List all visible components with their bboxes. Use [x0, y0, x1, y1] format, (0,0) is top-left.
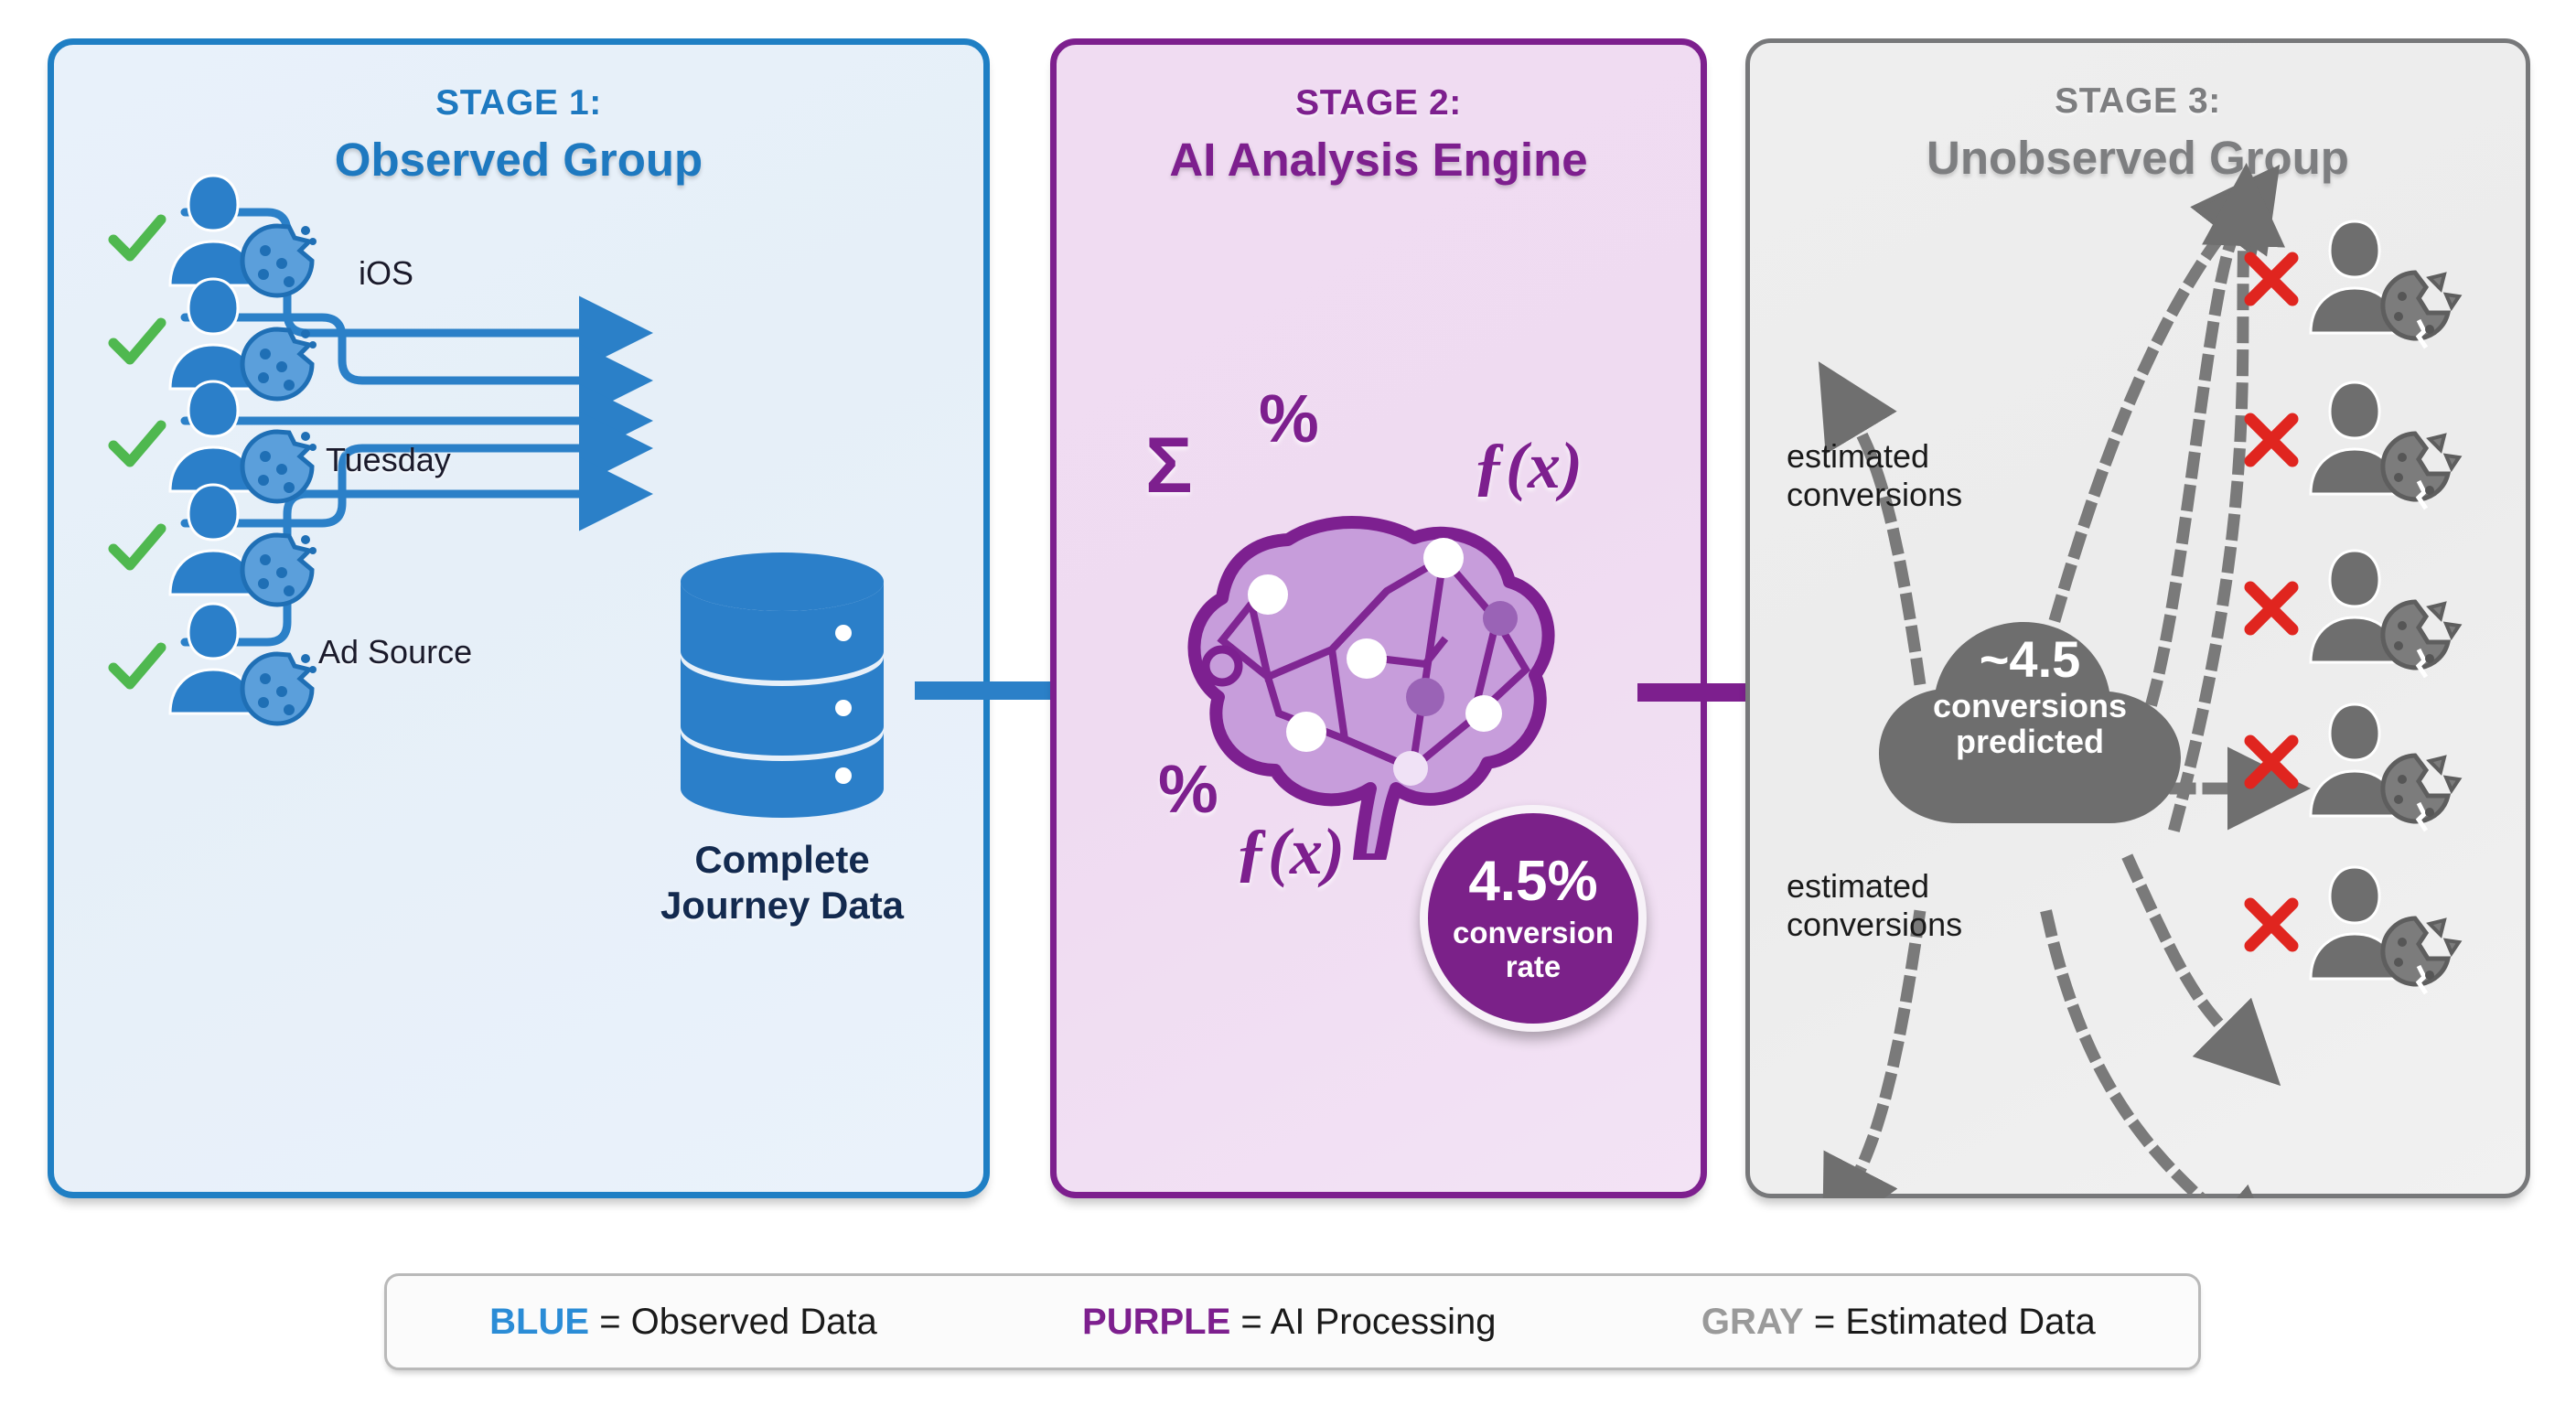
legend-item-purple: PURPLE = AI Processing [1082, 1302, 1496, 1343]
green-check-icon [108, 637, 166, 695]
observed-person-row [0, 593, 366, 730]
unobserved-person-row [2203, 858, 2569, 995]
cookie-broken-icon [2378, 426, 2463, 510]
stage-2-title: AI Analysis Engine [1057, 133, 1701, 187]
cookie-broken-icon [2378, 595, 2463, 679]
legend-value-blue: = Observed Data [599, 1302, 877, 1342]
database-cylinder-icon [677, 549, 887, 823]
green-check-icon [108, 414, 166, 473]
legend-key-gray: GRAY [1701, 1302, 1804, 1342]
attribute-label-ad-source: Ad Source [318, 633, 472, 671]
database-label-line2: Journey Data [660, 884, 904, 927]
database-label: Complete Journey Data [567, 837, 997, 928]
attribute-label-ios: iOS [359, 254, 413, 293]
cookie-broken-icon [2378, 265, 2463, 349]
unobserved-person-row [2203, 542, 2569, 679]
estimated-conversions-label-top: estimated conversions [1787, 437, 1962, 514]
estimated-conversions-label-bottom: estimated conversions [1787, 867, 1962, 944]
brain-neural-network-icon [1151, 503, 1572, 860]
stage-2-kicker: STAGE 2: [1057, 83, 1701, 123]
conversion-rate-caption-line1: conversion [1453, 916, 1614, 949]
legend-key-blue: BLUE [489, 1302, 589, 1342]
cookie-broken-icon [2378, 748, 2463, 832]
observed-person-row [0, 474, 366, 611]
stage-2-header: STAGE 2: AI Analysis Engine [1057, 83, 1701, 187]
cloud-icon [1870, 611, 2190, 840]
legend-item-gray: GRAY = Estimated Data [1701, 1302, 2096, 1343]
unobserved-person-row [2203, 695, 2569, 832]
legend-key-purple: PURPLE [1082, 1302, 1230, 1342]
attribute-label-tuesday: Tuesday [326, 441, 451, 479]
conversion-rate-value: 4.5% [1468, 853, 1597, 910]
red-x-icon [2243, 896, 2300, 953]
green-check-icon [108, 209, 166, 267]
unobserved-person-row [2203, 373, 2569, 510]
cookie-intact-icon [238, 649, 317, 728]
red-x-icon [2243, 580, 2300, 637]
red-x-icon [2243, 734, 2300, 790]
database-label-line1: Complete [694, 838, 869, 881]
green-check-icon [108, 312, 166, 370]
red-x-icon [2243, 412, 2300, 468]
legend-value-purple: = AI Processing [1240, 1302, 1496, 1342]
diagram-canvas: STAGE 1: Observed Group [0, 0, 2576, 1405]
legend: BLUE = Observed Data PURPLE = AI Process… [384, 1273, 2201, 1370]
cookie-broken-icon [2378, 911, 2463, 995]
red-x-icon [2243, 251, 2300, 307]
legend-item-blue: BLUE = Observed Data [489, 1302, 877, 1343]
unobserved-person-row [2203, 212, 2569, 349]
conversion-rate-badge: 4.5% conversion rate [1420, 805, 1647, 1032]
legend-value-gray: = Estimated Data [1814, 1302, 2096, 1342]
conversion-rate-caption-line2: rate [1506, 949, 1562, 983]
green-check-icon [108, 518, 166, 576]
